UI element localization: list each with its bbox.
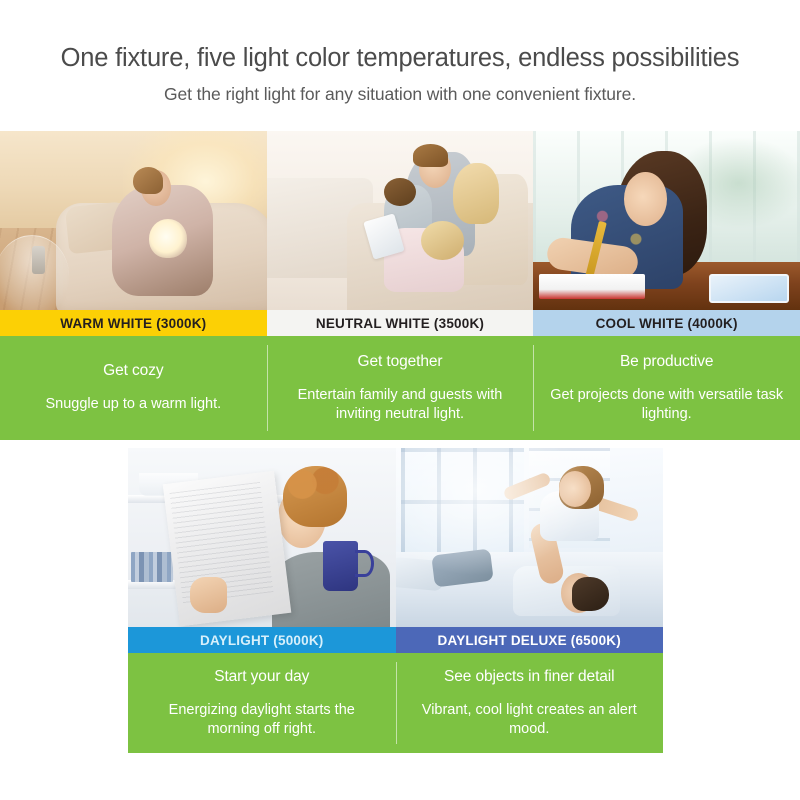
copy-cell-daylight-deluxe: See objects in finer detail Vibrant, coo… — [396, 653, 664, 753]
copy-body: Energizing daylight starts the morning o… — [142, 701, 382, 738]
copy-title: See objects in finer detail — [444, 668, 615, 686]
label-bar-warm-white: WARM WHITE (3000K) — [0, 310, 267, 336]
copy-title: Get together — [358, 353, 443, 371]
scene-girl-head — [624, 172, 667, 226]
scene-woman-on-sofa — [0, 131, 267, 310]
scene-mug-handle — [355, 550, 374, 577]
scene-woman-hand — [190, 577, 227, 613]
scene-child-two-hair — [421, 221, 464, 260]
scene-father-hair — [413, 144, 448, 167]
scene-lamp-glow — [149, 219, 186, 258]
photo-daylight-deluxe — [396, 448, 664, 627]
scene-books — [131, 552, 174, 582]
page-subtitle: Get the right light for any situation wi… — [0, 84, 800, 105]
scene-family-on-sofa — [267, 131, 534, 310]
bottom-row-section: DAYLIGHT (5000K) — [128, 448, 663, 753]
top-row-section: WARM WHITE (3000K) — [0, 131, 800, 440]
card-cool-white: COOL WHITE (4000K) — [533, 131, 800, 336]
label-text-cool-white: COOL WHITE (4000K) — [596, 316, 738, 331]
photo-neutral-white — [267, 131, 534, 310]
copy-body: Get projects done with versatile task li… — [547, 386, 786, 423]
scene-tablet — [709, 274, 789, 303]
header: One fixture, five light color temperatur… — [0, 0, 800, 105]
label-bar-cool-white: COOL WHITE (4000K) — [533, 310, 800, 336]
label-bar-neutral-white: NEUTRAL WHITE (3500K) — [267, 310, 534, 336]
top-row-cards: WARM WHITE (3000K) — [0, 131, 800, 336]
copy-title: Be productive — [620, 353, 713, 371]
infographic-page: One fixture, five light color temperatur… — [0, 0, 800, 800]
copy-title: Start your day — [214, 668, 309, 686]
green-panel-bottom: Start your day Energizing daylight start… — [128, 653, 663, 753]
card-neutral-white: NEUTRAL WHITE (3500K) — [267, 131, 534, 336]
scene-person-hair — [133, 167, 162, 194]
card-warm-white: WARM WHITE (3000K) — [0, 131, 267, 336]
copy-cell-warm-white: Get cozy Snuggle up to a warm light. — [0, 336, 267, 440]
label-text-daylight-deluxe: DAYLIGHT DELUXE (6500K) — [438, 633, 621, 648]
page-title: One fixture, five light color temperatur… — [0, 44, 800, 72]
bottom-row-cards: DAYLIGHT (5000K) — [128, 448, 663, 653]
scene-window-glare — [396, 448, 664, 627]
scene-blue-mug — [323, 541, 358, 591]
scene-woman-newspaper — [128, 448, 396, 627]
label-text-neutral-white: NEUTRAL WHITE (3500K) — [316, 316, 484, 331]
photo-daylight — [128, 448, 396, 627]
scene-fixture-bulb — [32, 246, 45, 275]
photo-cool-white — [533, 131, 800, 310]
label-text-warm-white: WARM WHITE (3000K) — [60, 316, 206, 331]
scene-woman-hair — [283, 466, 347, 527]
scene-girl-writing — [533, 131, 800, 310]
photo-warm-white — [0, 131, 267, 310]
copy-cell-daylight: Start your day Energizing daylight start… — [128, 653, 396, 753]
copy-cell-neutral-white: Get together Entertain family and guests… — [267, 336, 534, 440]
scene-mother-hair — [453, 163, 498, 224]
copy-title: Get cozy — [103, 362, 163, 380]
copy-cell-cool-white: Be productive Get projects done with ver… — [533, 336, 800, 440]
card-daylight: DAYLIGHT (5000K) — [128, 448, 396, 653]
scene-child-one-hair — [384, 178, 416, 207]
copy-body: Snuggle up to a warm light. — [45, 395, 221, 413]
scene-notebook — [539, 274, 646, 299]
copy-body: Entertain family and guests with invitin… — [281, 386, 520, 423]
card-daylight-deluxe: DAYLIGHT DELUXE (6500K) — [396, 448, 664, 653]
label-bar-daylight: DAYLIGHT (5000K) — [128, 627, 396, 653]
scene-father-child-bed — [396, 448, 664, 627]
copy-body: Vibrant, cool light creates an alert moo… — [410, 701, 650, 738]
label-bar-daylight-deluxe: DAYLIGHT DELUXE (6500K) — [396, 627, 664, 653]
green-panel-top: Get cozy Snuggle up to a warm light. Get… — [0, 336, 800, 440]
label-text-daylight: DAYLIGHT (5000K) — [200, 633, 323, 648]
